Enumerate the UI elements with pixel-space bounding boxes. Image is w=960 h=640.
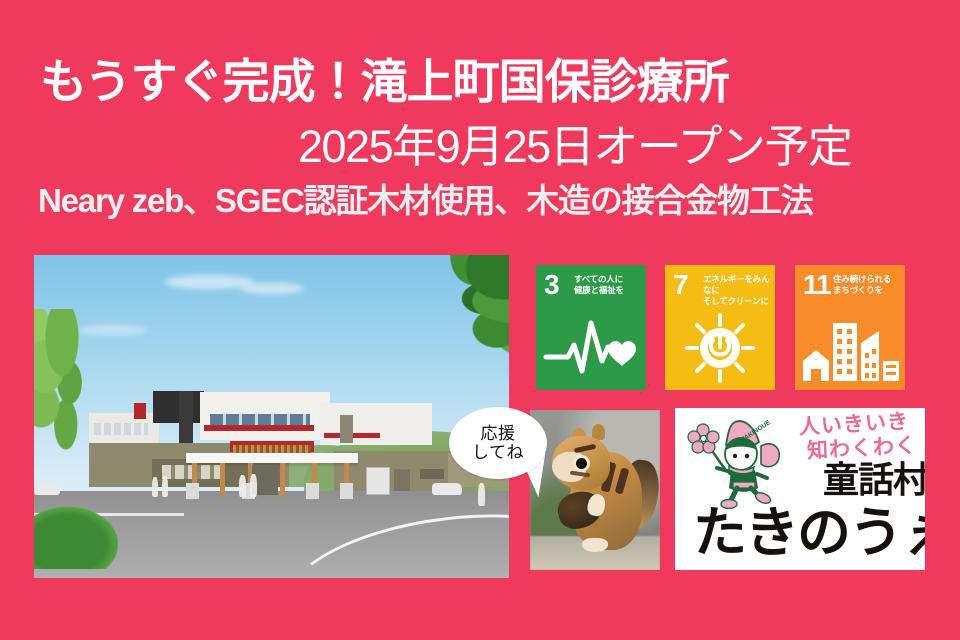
building-chimney xyxy=(134,403,146,419)
tree-foliage xyxy=(34,309,119,469)
tree-foliage xyxy=(386,255,509,366)
cherry-blossom-wand xyxy=(688,424,727,472)
headline-line-2: 2025年9月25日オープン予定 xyxy=(298,124,852,169)
logo-catchphrase-line-2: 知わくわく xyxy=(807,435,918,462)
sdg-number: 11 xyxy=(803,271,831,299)
building-upper-volume xyxy=(320,403,432,445)
parked-car xyxy=(34,483,60,495)
building-stair-tower xyxy=(340,415,353,443)
canopy-post-base xyxy=(306,483,319,499)
logo-catchphrase-line-1: 人いきいき xyxy=(799,411,910,438)
sdg-label-line-2: そしてクリーンに xyxy=(703,296,771,307)
parked-car xyxy=(432,483,462,495)
cityscape-icon xyxy=(795,309,905,387)
headline-line-1: もうすぐ完成！滝上町国保診療所 xyxy=(40,58,729,105)
canopy-wood-post xyxy=(220,463,225,497)
takinoue-fairy-mascot-icon: TAKINOUE xyxy=(687,416,787,512)
chipmunk-eye xyxy=(576,458,587,469)
town-mascot-logo: TAKINOUE 人いきいき 知わくわく 童話村 たきのうぇ xyxy=(675,408,925,570)
sdg-label-line-2: まちづくりを xyxy=(833,285,901,296)
canopy-post-base xyxy=(186,483,199,499)
sdg-label: 住み続けられる まちづくりを xyxy=(833,274,901,296)
sdg-label: エネルギーをみんなに そしてクリーンに xyxy=(703,274,771,308)
bush-foliage xyxy=(34,507,118,569)
logo-town-name: たきのうぇ xyxy=(693,506,925,560)
figure-person xyxy=(478,483,485,506)
logo-title: 童話村 xyxy=(823,462,925,498)
sdg-card-3: 3 すべての人に 健康と福祉を xyxy=(536,265,646,390)
sdg-label-line-1: すべての人に xyxy=(574,274,642,285)
building-red-roofline xyxy=(204,425,314,431)
poster-canvas: もうすぐ完成！滝上町国保診療所 2025年9月25日オープン予定 Neary z… xyxy=(0,0,960,640)
canopy-roof-slab xyxy=(186,453,358,463)
sdg-label-line-2: 健康と福祉を xyxy=(574,285,642,296)
headline-line-3: Neary zeb、SGEC認証木材使用、木造の接合金物工法 xyxy=(38,184,812,217)
sdg-label-line-1: エネルギーをみんなに xyxy=(703,274,771,296)
building-window-band xyxy=(420,469,444,479)
sun-power-icon xyxy=(665,309,775,387)
sdg-card-11: 11 住み続けられる まちづくりを xyxy=(795,265,905,390)
speech-bubble-line-1: 応援 xyxy=(472,424,524,443)
figure-person xyxy=(250,474,257,497)
secondary-entrance xyxy=(394,469,410,491)
sdg-number: 7 xyxy=(673,271,688,299)
sdg-number: 3 xyxy=(544,271,559,299)
speech-bubble-line-2: してね xyxy=(472,443,524,462)
heartbeat-icon xyxy=(536,309,646,387)
canopy-post-base xyxy=(340,483,353,499)
figure-person xyxy=(239,475,246,497)
canopy-wood-post xyxy=(280,463,285,497)
chipmunk-foot xyxy=(582,538,608,552)
figure-person xyxy=(162,476,168,497)
figure-person xyxy=(152,477,158,497)
sdg-label: すべての人に 健康と福祉を xyxy=(574,274,642,296)
clinic-rendering-photo xyxy=(34,255,509,578)
building-window-band xyxy=(210,414,310,425)
speech-bubble: 応援 してね xyxy=(449,407,547,479)
speech-bubble-text: 応援 してね xyxy=(472,424,524,462)
sdg-label-line-1: 住み続けられる xyxy=(833,274,901,285)
cloud-shape xyxy=(240,283,304,294)
secondary-entrance xyxy=(366,467,390,495)
sdg-card-7: 7 エネルギーをみんなに そしてクリーンに xyxy=(665,265,775,390)
